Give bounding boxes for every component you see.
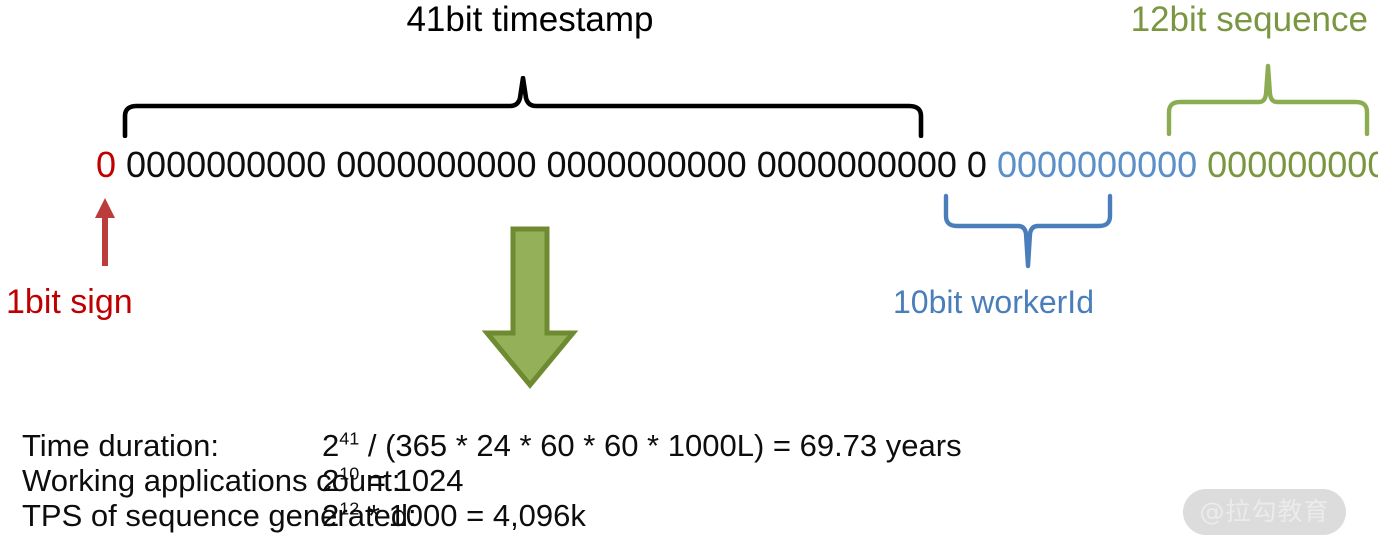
watermark-badge: @拉勾教育: [1183, 489, 1346, 535]
formula-row-working-applications: Working applications count: 210 = 1024: [22, 463, 962, 498]
watermark-text: @拉勾教育: [1183, 489, 1346, 535]
formula-exponent: 10: [339, 464, 359, 484]
formula-label: Time duration:: [22, 428, 322, 463]
timestamp-section-label: 41bit timestamp: [0, 2, 1060, 37]
formula-exponent: 41: [339, 429, 359, 449]
sign-section-label: 1bit sign: [6, 285, 133, 319]
formula-expression: 210 = 1024: [322, 463, 464, 498]
bit-string: 0000000000000000000000000000000000000000…: [96, 147, 1378, 183]
arrow-down-icon: [480, 225, 580, 395]
formula-label: TPS of sequence generated:: [22, 498, 322, 533]
formula-rest: / (365 * 24 * 60 * 60 * 1000L) = 69.73 y…: [359, 428, 961, 463]
formula-base: 2: [322, 428, 339, 463]
curly-brace-up-icon: [940, 192, 1120, 275]
arrow-up-icon: [88, 196, 122, 273]
curly-brace-down-icon: [1163, 62, 1373, 141]
bit-group-timestamp-4: 0000000000: [757, 144, 957, 185]
bit-group-timestamp-1: 0000000000: [126, 144, 326, 185]
formula-list: Time duration: 241 / (365 * 24 * 60 * 60…: [22, 428, 962, 533]
workerid-section-label: 10bit workerId: [893, 286, 1094, 318]
formula-base: 2: [322, 498, 339, 533]
formula-expression: 241 / (365 * 24 * 60 * 60 * 1000L) = 69.…: [322, 428, 962, 463]
formula-base: 2: [322, 463, 339, 498]
formula-exponent: 12: [339, 499, 359, 519]
sequence-section-label: 12bit sequence: [1131, 2, 1368, 37]
formula-label: Working applications count:: [22, 463, 322, 498]
bit-group-sequence-1: 0000000000: [1207, 144, 1378, 185]
formula-rest: * 1000 = 4,096k: [359, 498, 586, 533]
bit-group-sign: 0: [96, 144, 116, 185]
snowflake-id-diagram: 41bit timestamp 12bit sequence 000000000…: [0, 0, 1378, 560]
bit-group-timestamp-3: 0000000000: [546, 144, 746, 185]
formula-rest: = 1024: [359, 463, 463, 498]
bit-group-workerid-1: 0000000000: [997, 144, 1197, 185]
bit-group-timestamp-5: 0: [967, 144, 987, 185]
formula-row-time-duration: Time duration: 241 / (365 * 24 * 60 * 60…: [22, 428, 962, 463]
bit-group-timestamp-2: 0000000000: [336, 144, 536, 185]
formula-expression: 212 * 1000 = 4,096k: [322, 498, 586, 533]
curly-brace-down-icon: [118, 76, 928, 143]
formula-row-tps: TPS of sequence generated: 212 * 1000 = …: [22, 498, 962, 533]
